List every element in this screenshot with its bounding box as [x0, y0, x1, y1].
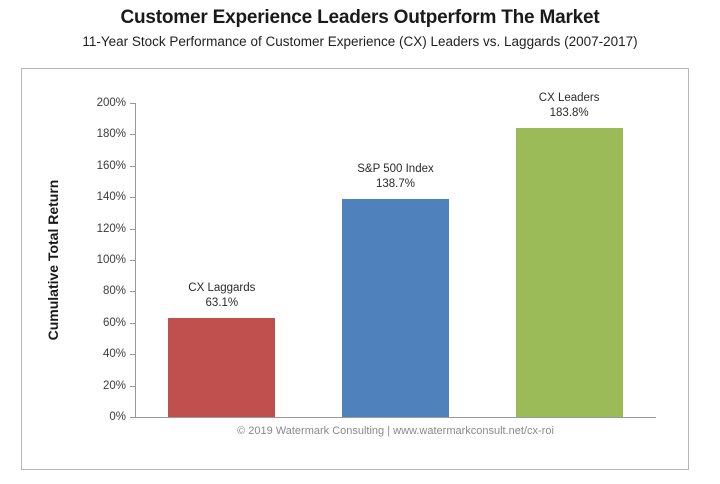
bar-category-label: S&P 500 Index — [306, 162, 486, 177]
y-axis-tick-label: 60% — [66, 317, 126, 329]
bar-data-label: CX Leaders183.8% — [479, 91, 659, 121]
bar-s-p-500-index[interactable] — [342, 199, 449, 417]
plot-area: CX Laggards63.1%S&P 500 Index138.7%CX Le… — [135, 103, 656, 417]
bar-value-label: 138.7% — [306, 177, 486, 192]
y-axis-tick-label: 180% — [66, 128, 126, 140]
chart-attribution: © 2019 Watermark Consulting | www.waterm… — [135, 425, 656, 437]
bar-category-label: CX Leaders — [479, 91, 659, 106]
page-subtitle: 11-Year Stock Performance of Customer Ex… — [0, 32, 720, 52]
y-axis-tick-label: 160% — [66, 160, 126, 172]
x-axis-line — [135, 417, 656, 418]
y-axis-tick-label: 200% — [66, 97, 126, 109]
bar-value-label: 183.8% — [479, 106, 659, 121]
y-axis-tick-label: 0% — [66, 411, 126, 423]
y-axis-tick-label: 100% — [66, 254, 126, 266]
y-axis-tick-labels: 0%20%40%60%80%100%120%140%160%180%200% — [64, 103, 126, 418]
y-axis-tick-label: 80% — [66, 285, 126, 297]
bar-category-label: CX Laggards — [132, 281, 312, 296]
bar-data-label: S&P 500 Index138.7% — [306, 162, 486, 192]
y-axis-tick-label: 140% — [66, 191, 126, 203]
bar-cx-laggards[interactable] — [168, 318, 275, 417]
title-block: Customer Experience Leaders Outperform T… — [0, 6, 720, 52]
y-axis-tick-label: 120% — [66, 223, 126, 235]
bar-value-label: 63.1% — [132, 296, 312, 311]
bar-data-label: CX Laggards63.1% — [132, 281, 312, 311]
y-axis-tick-label: 20% — [66, 380, 126, 392]
y-axis-tick-label: 40% — [66, 348, 126, 360]
bar-cx-leaders[interactable] — [516, 128, 623, 417]
page-title: Customer Experience Leaders Outperform T… — [0, 6, 720, 30]
